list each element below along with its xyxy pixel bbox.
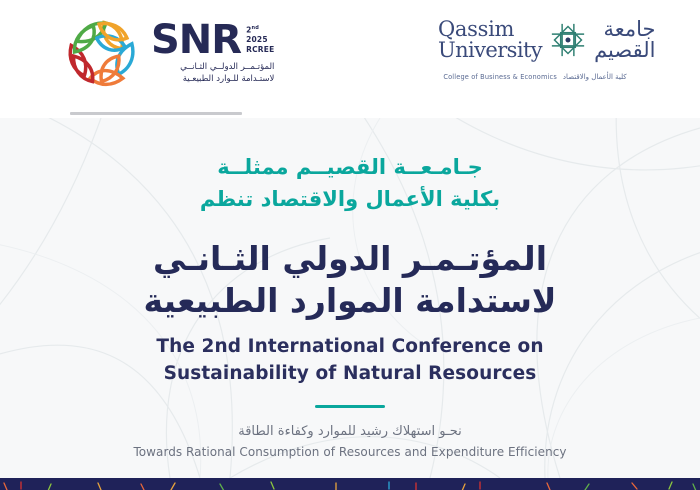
presenter-line-1: جـامـعــة القصيــم ممثلــة (200, 152, 500, 184)
presenter-heading: جـامـعــة القصيــم ممثلــة بكلية الأعمال… (200, 152, 500, 216)
title-ar-line-2: لاستدامة الموارد الطبيعية (144, 280, 557, 322)
conference-title-english: The 2nd International Conference on Sust… (156, 334, 543, 387)
snr-edition: 2nd (246, 25, 274, 35)
qassim-university-arabic-name: جامعة القصيم (594, 19, 655, 61)
banner-content: جـامـعــة القصيــم ممثلــة بكلية الأعمال… (0, 118, 700, 478)
qu-line-university: University (438, 41, 542, 61)
pinwheel-petals-icon (63, 11, 145, 93)
qassim-university-logo: Qassim University جامعة القصيم (438, 10, 628, 94)
snr-arabic-line-1: المؤتـمــر الدولــي الثـانــي (151, 61, 274, 74)
qassim-college-subtitle: College of Business & Economics كلية الأ… (442, 73, 628, 81)
banner-body: جـامـعــة القصيــم ممثلــة بكلية الأعمال… (0, 118, 700, 478)
snr-wordmark-block: SNR 2nd 2025 RCREE المؤتـمــر الدولــي ا… (151, 18, 274, 86)
snr-arabic-line-2: لاستـدامة للـوارد الطبيعـية (151, 73, 274, 86)
presenter-line-2: بكلية الأعمال والاقتصاد تنظم (200, 184, 500, 216)
snr-wordmark: SNR (151, 22, 241, 59)
qassim-university-english-name: Qassim University (438, 20, 542, 61)
qassim-star-emblem-icon (546, 18, 590, 62)
footer-accent-strip (0, 478, 700, 490)
conference-banner: SNR 2nd 2025 RCREE المؤتـمــر الدولــي ا… (0, 0, 700, 490)
title-ar-line-1: المؤتـمـر الدولي الثـانـي (144, 238, 557, 280)
college-name-ar: كلية الأعمال والاقتصاد (563, 73, 627, 81)
footer-tick-marks (0, 481, 700, 490)
snr-conference-logo: SNR 2nd 2025 RCREE المؤتـمــر الدولــي ا… (63, 9, 308, 95)
snr-edition-meta: 2nd 2025 RCREE (246, 22, 274, 55)
college-name-en: College of Business & Economics (443, 73, 557, 81)
snr-year: 2025 (246, 35, 274, 45)
title-en-line-2: Sustainability of Natural Resources (156, 361, 543, 387)
banner-header: SNR 2nd 2025 RCREE المؤتـمــر الدولــي ا… (0, 0, 700, 118)
tagline-arabic: نحـو استهلاك رشيد للموارد وكفاءة الطاقة (238, 424, 462, 439)
tagline-english: Towards Rational Consumption of Resource… (133, 445, 566, 459)
conference-title-arabic: المؤتـمـر الدولي الثـانـي لاستدامة الموا… (144, 238, 557, 322)
snr-org-code: RCREE (246, 45, 274, 55)
teal-divider (315, 405, 385, 408)
qu-line-qassim: Qassim (438, 20, 542, 40)
title-en-line-1: The 2nd International Conference on (156, 334, 543, 360)
header-divider-rule (70, 112, 242, 115)
